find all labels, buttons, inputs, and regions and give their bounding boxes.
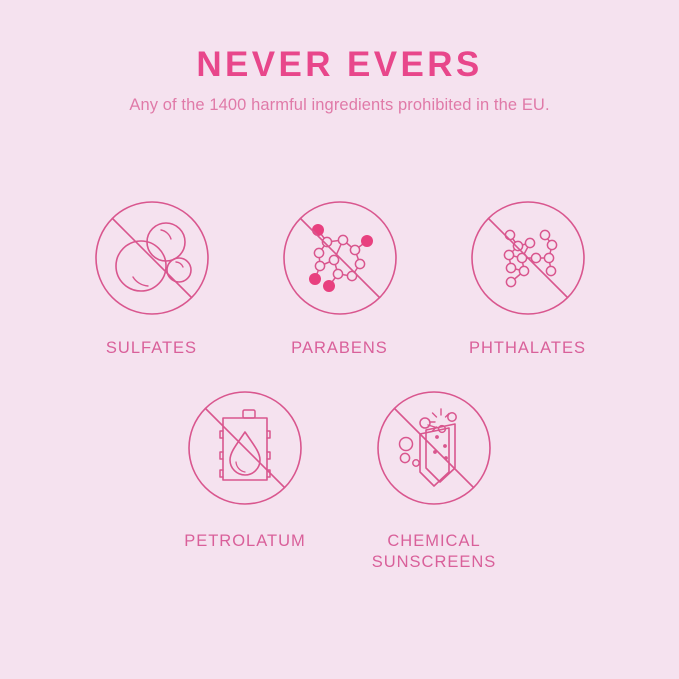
icon-row-1: SULFATES (0, 200, 679, 359)
never-ever-item-chemical-sunscreens: CHEMICAL SUNSCREENS (340, 390, 529, 573)
no-chemical-sunscreens-bottle-icon (376, 390, 492, 506)
no-petrolatum-barrel-icon (187, 390, 303, 506)
never-ever-item-sulfates: SULFATES (58, 200, 246, 359)
no-sulfates-bubbles-icon (94, 200, 210, 316)
item-label: SULFATES (106, 338, 197, 359)
icon-row-2: PETROLATUM (0, 390, 679, 573)
never-ever-item-petrolatum: PETROLATUM (151, 390, 340, 573)
never-ever-item-phthalates: PHTHALATES (434, 200, 622, 359)
item-label: CHEMICAL SUNSCREENS (372, 531, 497, 573)
page-subtitle: Any of the 1400 harmful ingredients proh… (0, 94, 679, 116)
never-evers-panel: NEVER EVERS Any of the 1400 harmful ingr… (0, 0, 679, 679)
no-phthalates-molecule-icon (470, 200, 586, 316)
no-parabens-molecule-icon (282, 200, 398, 316)
item-label: PETROLATUM (184, 531, 306, 552)
item-label: PARABENS (291, 338, 388, 359)
never-ever-item-parabens: PARABENS (246, 200, 434, 359)
item-label: PHTHALATES (469, 338, 586, 359)
page-title: NEVER EVERS (0, 44, 679, 86)
header: NEVER EVERS Any of the 1400 harmful ingr… (0, 44, 679, 116)
